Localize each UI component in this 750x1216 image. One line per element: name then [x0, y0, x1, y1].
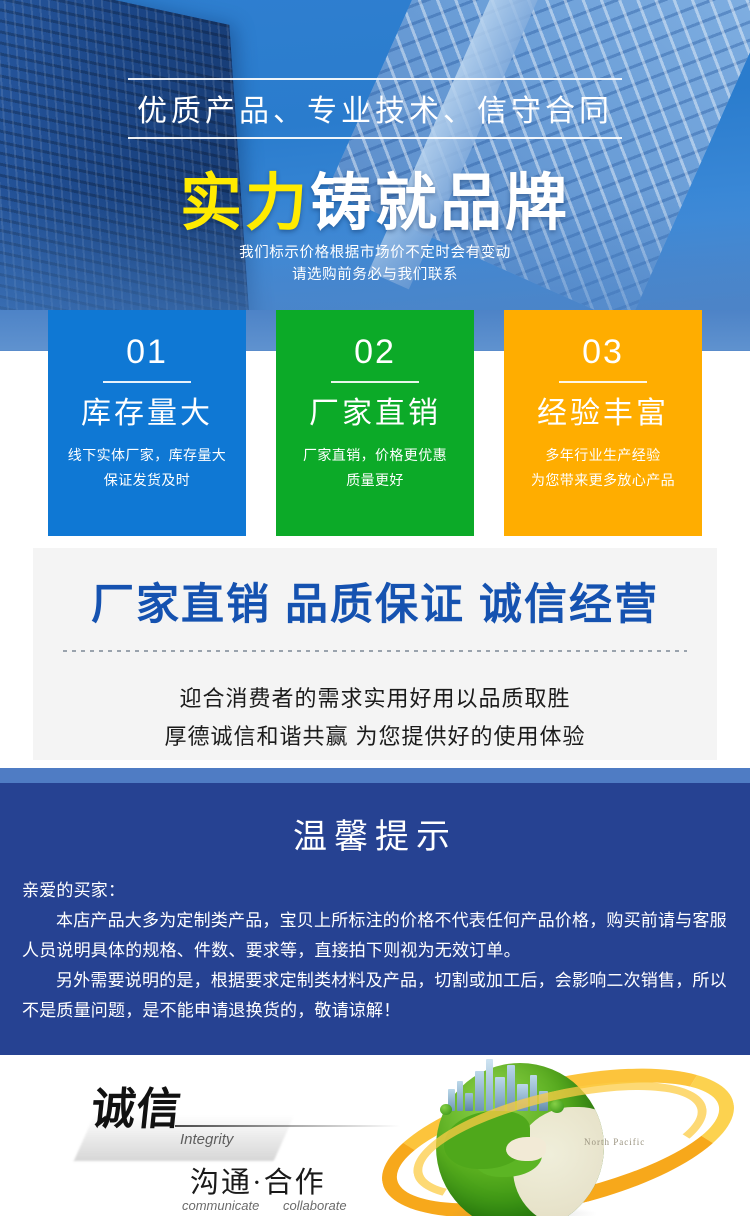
feature-cards: 01 库存量大 线下实体厂家，库存量大 保证发货及时 02 厂家直销 厂家直销，… — [48, 310, 702, 536]
footer-word-communicate-en: communicate — [182, 1198, 259, 1213]
footer-divider-line — [175, 1125, 400, 1127]
card-description: 多年行业生产经验 为您带来更多放心产品 — [504, 443, 702, 493]
promo-page: 优质产品、专业技术、信守合同 实力铸就品牌 我们标示价格根据市场价不定时会有变动… — [0, 0, 750, 1216]
tips-title: 温馨提示 — [0, 783, 750, 858]
footer-word-integrity-en: Integrity — [180, 1131, 233, 1148]
card-desc-line1: 多年行业生产经验 — [504, 443, 702, 468]
footer-banner: 诚信 Integrity 沟通·合作 communicate collabora… — [0, 1055, 750, 1216]
card-divider — [103, 381, 191, 383]
card-desc-line1: 线下实体厂家，库存量大 — [48, 443, 246, 468]
tips-body: 亲爱的买家： 本店产品大多为定制类产品，宝贝上所标注的价格不代表任何产品价格，购… — [0, 858, 750, 1026]
hero-subtitle-block: 优质产品、专业技术、信守合同 — [128, 78, 622, 139]
footer-word-communicate-collaborate-cn: 沟通·合作 — [190, 1159, 326, 1201]
tree-icon — [440, 1104, 452, 1115]
hero-subtitle: 优质产品、专业技术、信守合同 — [128, 80, 622, 137]
slogan-sub-line1: 迎合消费者的需求实用好用以品质取胜 — [33, 680, 717, 718]
hero-rule-bottom — [128, 137, 622, 139]
slogan-sub-line2: 厚德诚信和谐共赢 为您提供好的使用体验 — [33, 718, 717, 756]
card-number: 02 — [276, 332, 474, 372]
hero-title-highlight: 实力 — [180, 169, 310, 238]
hero-title: 实力铸就品牌 — [0, 152, 750, 242]
globe-graphic: North Pacific — [388, 1055, 750, 1216]
feature-cards-band: 01 库存量大 线下实体厂家，库存量大 保证发货及时 02 厂家直销 厂家直销，… — [0, 310, 750, 538]
feature-card-01[interactable]: 01 库存量大 线下实体厂家，库存量大 保证发货及时 — [48, 310, 246, 536]
hero-note-line1: 我们标示价格根据市场价不定时会有变动 — [0, 242, 750, 264]
slogan-headline: 厂家直销 品质保证 诚信经营 — [33, 548, 717, 632]
slogan-panel: 厂家直销 品质保证 诚信经营 迎合消费者的需求实用好用以品质取胜 厚德诚信和谐共… — [33, 548, 717, 760]
hero-title-rest: 铸就品牌 — [310, 169, 570, 238]
card-title: 库存量大 — [48, 395, 246, 433]
tips-paragraph-1: 本店产品大多为定制类产品，宝贝上所标注的价格不代表任何产品价格，购买前请与客服人… — [22, 906, 728, 966]
hero-note-line2: 请选购前务必与我们联系 — [0, 264, 750, 286]
tips-section: 温馨提示 亲爱的买家： 本店产品大多为定制类产品，宝贝上所标注的价格不代表任何产… — [0, 783, 750, 1055]
card-title: 经验丰富 — [504, 395, 702, 433]
slogan-subtext: 迎合消费者的需求实用好用以品质取胜 厚德诚信和谐共赢 为您提供好的使用体验 — [33, 652, 717, 756]
footer-word-collaborate-en: collaborate — [283, 1198, 347, 1213]
card-desc-line2: 保证发货及时 — [48, 468, 246, 493]
tips-top-strip — [0, 768, 750, 783]
feature-card-02[interactable]: 02 厂家直销 厂家直销，价格更优惠 质量更好 — [276, 310, 474, 536]
footer-word-integrity-cn: 诚信 — [89, 1073, 186, 1137]
hero-banner: 优质产品、专业技术、信守合同 实力铸就品牌 我们标示价格根据市场价不定时会有变动… — [0, 0, 750, 310]
card-number: 03 — [504, 332, 702, 372]
card-desc-line1: 厂家直销，价格更优惠 — [276, 443, 474, 468]
card-title: 厂家直销 — [276, 395, 474, 433]
feature-card-03[interactable]: 03 经验丰富 多年行业生产经验 为您带来更多放心产品 — [504, 310, 702, 536]
card-divider — [559, 381, 647, 383]
card-description: 线下实体厂家，库存量大 保证发货及时 — [48, 443, 246, 493]
card-description: 厂家直销，价格更优惠 质量更好 — [276, 443, 474, 493]
card-desc-line2: 质量更好 — [276, 468, 474, 493]
card-divider — [331, 381, 419, 383]
globe-map-label: North Pacific — [584, 1137, 645, 1147]
tips-paragraph-2: 另外需要说明的是，根据要求定制类材料及产品，切割或加工后，会影响二次销售，所以不… — [22, 966, 728, 1026]
card-number: 01 — [48, 332, 246, 372]
hero-note: 我们标示价格根据市场价不定时会有变动 请选购前务必与我们联系 — [0, 242, 750, 286]
card-desc-line2: 为您带来更多放心产品 — [504, 468, 702, 493]
tips-greeting: 亲爱的买家： — [22, 876, 728, 906]
